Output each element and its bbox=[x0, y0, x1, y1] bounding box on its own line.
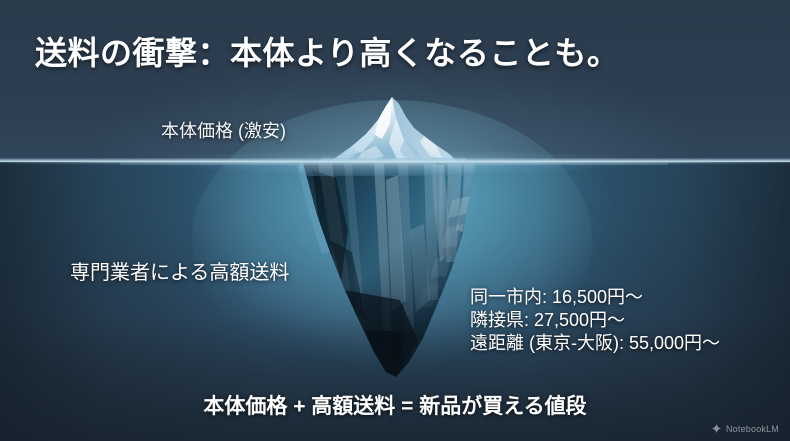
sky-background bbox=[0, 0, 790, 162]
notebooklm-watermark-label: NotebookLM bbox=[726, 424, 779, 434]
notebooklm-logo-icon bbox=[711, 423, 722, 434]
price-list: 同一市内: 16,500円〜 隣接県: 27,500円〜 遠距離 (東京-大阪)… bbox=[470, 286, 720, 355]
label-below-water: 専門業者による高額送料 bbox=[70, 256, 289, 285]
label-above-water: 本体価格 (激安) bbox=[161, 117, 286, 143]
price-item-long-distance: 遠距離 (東京-大阪): 55,000円〜 bbox=[470, 332, 720, 355]
page-title: 送料の衝撃：本体より高くなることも。 bbox=[35, 28, 619, 74]
notebooklm-watermark: NotebookLM bbox=[711, 423, 779, 434]
summary-equation: 本体価格 + 高額送料 = 新品が買える値段 bbox=[0, 390, 790, 420]
price-item-same-city: 同一市内: 16,500円〜 bbox=[470, 286, 720, 309]
price-item-adjacent-prefecture: 隣接県: 27,500円〜 bbox=[470, 309, 720, 332]
slide-canvas: 送料の衝撃：本体より高くなることも。 本体価格 (激安) 専門業者による高額送料… bbox=[0, 0, 790, 441]
